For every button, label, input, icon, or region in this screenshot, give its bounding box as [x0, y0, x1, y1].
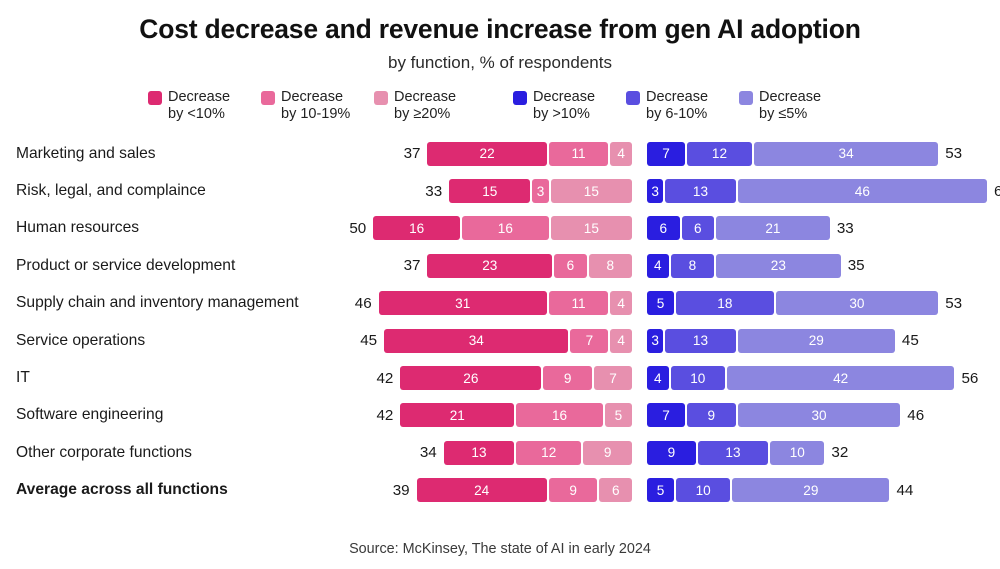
- bar-segment[interactable]: 42: [727, 366, 955, 390]
- legend-item[interactable]: Decrease by ≤5%: [739, 89, 852, 123]
- bar-segment[interactable]: 7: [570, 329, 608, 353]
- chart-legend: Decrease by <10%Decrease by 10-19%Decrea…: [0, 89, 1000, 123]
- source-note: Source: McKinsey, The state of AI in ear…: [0, 541, 1000, 557]
- bar-segment[interactable]: 46: [738, 179, 987, 203]
- bar-segment[interactable]: 8: [671, 254, 714, 278]
- right-bar-group: 5102944: [647, 478, 913, 502]
- left-total-label: 37: [404, 145, 421, 162]
- left-bar-group: 3722114: [404, 142, 632, 166]
- right-total-label: 53: [945, 295, 962, 312]
- bar-segment[interactable]: 9: [583, 441, 632, 465]
- bar-segment[interactable]: 4: [647, 254, 669, 278]
- right-bar-group: 7123453: [647, 142, 962, 166]
- chart-subtitle: by function, % of respondents: [0, 53, 1000, 73]
- bar-segment[interactable]: 3: [647, 329, 663, 353]
- row-label: Average across all functions: [16, 481, 228, 499]
- chart-row: IT4226974104256: [0, 359, 1000, 396]
- bar-segment[interactable]: 10: [671, 366, 725, 390]
- left-total-label: 45: [360, 332, 377, 349]
- row-label: Supply chain and inventory management: [16, 294, 299, 312]
- bar-segment[interactable]: 16: [373, 216, 460, 240]
- bar-segment[interactable]: 7: [647, 403, 685, 427]
- legend-swatch-icon: [739, 91, 753, 105]
- legend-item[interactable]: Decrease by <10%: [148, 89, 261, 123]
- chart-header: Cost decrease and revenue increase from …: [0, 0, 1000, 73]
- right-total-label: 45: [902, 332, 919, 349]
- bar-segment[interactable]: 21: [716, 216, 830, 240]
- bar-segment[interactable]: 5: [647, 291, 674, 315]
- chart-row: Human resources50161615662133: [0, 210, 1000, 247]
- legend-item[interactable]: Decrease by >10%: [513, 89, 626, 123]
- chart-row: Marketing and sales37221147123453: [0, 135, 1000, 172]
- bar-segment[interactable]: 23: [716, 254, 841, 278]
- legend-item-label: Decrease by 6-10%: [646, 89, 708, 123]
- left-bar-group: 372368: [404, 254, 632, 278]
- legend-item-label: Decrease by >10%: [533, 89, 595, 123]
- right-total-label: 62: [994, 183, 1000, 200]
- right-bar-group: 9131032: [647, 441, 848, 465]
- legend-item-label: Decrease by ≤5%: [759, 89, 821, 123]
- bar-segment[interactable]: 29: [732, 478, 889, 502]
- bar-segment[interactable]: 9: [687, 403, 736, 427]
- bar-segment[interactable]: 21: [400, 403, 514, 427]
- legend-item[interactable]: Decrease by 10-19%: [261, 89, 374, 123]
- right-bar-group: 793046: [647, 403, 924, 427]
- bar-segment[interactable]: 6: [554, 254, 587, 278]
- legend-item[interactable]: Decrease by ≥20%: [374, 89, 487, 123]
- legend-swatch-icon: [513, 91, 527, 105]
- bar-segment[interactable]: 3: [532, 179, 548, 203]
- legend-item[interactable]: Decrease by 6-10%: [626, 89, 739, 123]
- bar-segment[interactable]: 11: [549, 142, 609, 166]
- left-total-label: 50: [349, 220, 366, 237]
- bar-segment[interactable]: 10: [770, 441, 824, 465]
- right-total-label: 56: [961, 370, 978, 387]
- left-bar-group: 392496: [393, 478, 632, 502]
- right-total-label: 53: [945, 145, 962, 162]
- bar-segment[interactable]: 4: [610, 329, 632, 353]
- bar-segment[interactable]: 12: [687, 142, 752, 166]
- right-total-label: 33: [837, 220, 854, 237]
- left-bar-group: 453474: [360, 329, 632, 353]
- legend-item-label: Decrease by <10%: [168, 89, 230, 123]
- right-bar-group: 3132945: [647, 329, 919, 353]
- bar-segment[interactable]: 5: [647, 478, 674, 502]
- bar-segment[interactable]: 8: [589, 254, 632, 278]
- left-total-label: 37: [404, 257, 421, 274]
- left-total-label: 39: [393, 482, 410, 499]
- bar-segment[interactable]: 34: [754, 142, 938, 166]
- bar-segment[interactable]: 4: [647, 366, 669, 390]
- bar-segment[interactable]: 5: [605, 403, 632, 427]
- bar-segment[interactable]: 13: [698, 441, 768, 465]
- bar-segment[interactable]: 15: [551, 216, 632, 240]
- bar-segment[interactable]: 26: [400, 366, 541, 390]
- bar-segment[interactable]: 12: [516, 441, 581, 465]
- bar-segment[interactable]: 6: [647, 216, 680, 240]
- bar-segment[interactable]: 4: [610, 142, 632, 166]
- chart-plot-area: Marketing and sales37221147123453Risk, l…: [0, 135, 1000, 495]
- row-label: Other corporate functions: [16, 444, 192, 462]
- bar-segment[interactable]: 7: [647, 142, 685, 166]
- right-bar-group: 482335: [647, 254, 865, 278]
- legend-item-label: Decrease by ≥20%: [394, 89, 456, 123]
- row-label: Software engineering: [16, 406, 163, 424]
- bar-segment[interactable]: 18: [676, 291, 774, 315]
- bar-segment[interactable]: 6: [682, 216, 715, 240]
- legend-swatch-icon: [148, 91, 162, 105]
- left-bar-group: 50161615: [349, 216, 632, 240]
- left-total-label: 42: [376, 407, 393, 424]
- legend-group-cost: Decrease by <10%Decrease by 10-19%Decrea…: [148, 89, 487, 123]
- bar-segment[interactable]: 13: [665, 179, 735, 203]
- bar-segment[interactable]: 15: [449, 179, 530, 203]
- row-label: IT: [16, 369, 30, 387]
- left-total-label: 33: [425, 183, 442, 200]
- left-bar-group: 3413129: [420, 441, 632, 465]
- page-title: Cost decrease and revenue increase from …: [0, 14, 1000, 44]
- right-bar-group: 4104256: [647, 366, 978, 390]
- bar-segment[interactable]: 30: [738, 403, 901, 427]
- left-total-label: 42: [376, 370, 393, 387]
- right-total-label: 44: [896, 482, 913, 499]
- bar-segment[interactable]: 6: [599, 478, 632, 502]
- right-bar-group: 5183053: [647, 291, 962, 315]
- right-bar-group: 662133: [647, 216, 854, 240]
- row-label: Risk, legal, and complaince: [16, 182, 206, 200]
- bar-segment[interactable]: 16: [516, 403, 603, 427]
- right-bar-group: 3134662: [647, 179, 1000, 203]
- legend-group-revenue: Decrease by >10%Decrease by 6-10%Decreas…: [513, 89, 852, 123]
- bar-segment[interactable]: 13: [444, 441, 514, 465]
- row-label: Marketing and sales: [16, 145, 156, 163]
- left-total-label: 34: [420, 444, 437, 461]
- left-bar-group: 3315315: [425, 179, 632, 203]
- chart-row: Risk, legal, and complaince3315315313466…: [0, 172, 1000, 209]
- bar-segment[interactable]: 11: [549, 291, 609, 315]
- bar-segment[interactable]: 16: [462, 216, 549, 240]
- bar-segment[interactable]: 9: [549, 478, 598, 502]
- left-bar-group: 4221165: [376, 403, 632, 427]
- left-total-label: 46: [355, 295, 372, 312]
- bar-segment[interactable]: 15: [551, 179, 632, 203]
- chart-row: Service operations4534743132945: [0, 322, 1000, 359]
- right-total-label: 46: [907, 407, 924, 424]
- left-bar-group: 422697: [376, 366, 632, 390]
- row-label: Service operations: [16, 332, 145, 350]
- right-total-label: 35: [848, 257, 865, 274]
- bar-segment[interactable]: 31: [379, 291, 547, 315]
- legend-item-label: Decrease by 10-19%: [281, 89, 350, 123]
- bar-segment[interactable]: 9: [647, 441, 696, 465]
- legend-swatch-icon: [626, 91, 640, 105]
- bar-segment[interactable]: 29: [738, 329, 895, 353]
- bar-segment[interactable]: 13: [665, 329, 735, 353]
- chart-row: Product or service development3723684823…: [0, 247, 1000, 284]
- chart-row: Other corporate functions34131299131032: [0, 434, 1000, 471]
- bar-segment[interactable]: 30: [776, 291, 939, 315]
- bar-segment[interactable]: 9: [543, 366, 592, 390]
- bar-segment[interactable]: 4: [610, 291, 632, 315]
- bar-segment[interactable]: 10: [676, 478, 730, 502]
- chart-row: Supply chain and inventory management463…: [0, 285, 1000, 322]
- row-label: Product or service development: [16, 257, 235, 275]
- bar-segment[interactable]: 23: [427, 254, 552, 278]
- bar-segment[interactable]: 34: [384, 329, 568, 353]
- chart-row: Average across all functions392496510294…: [0, 472, 1000, 509]
- bar-segment[interactable]: 3: [647, 179, 663, 203]
- bar-segment[interactable]: 22: [427, 142, 546, 166]
- left-bar-group: 4631114: [355, 291, 632, 315]
- right-total-label: 32: [831, 444, 848, 461]
- chart-row: Software engineering4221165793046: [0, 397, 1000, 434]
- bar-segment[interactable]: 7: [594, 366, 632, 390]
- row-label: Human resources: [16, 219, 139, 237]
- bar-segment[interactable]: 24: [417, 478, 547, 502]
- legend-swatch-icon: [374, 91, 388, 105]
- legend-swatch-icon: [261, 91, 275, 105]
